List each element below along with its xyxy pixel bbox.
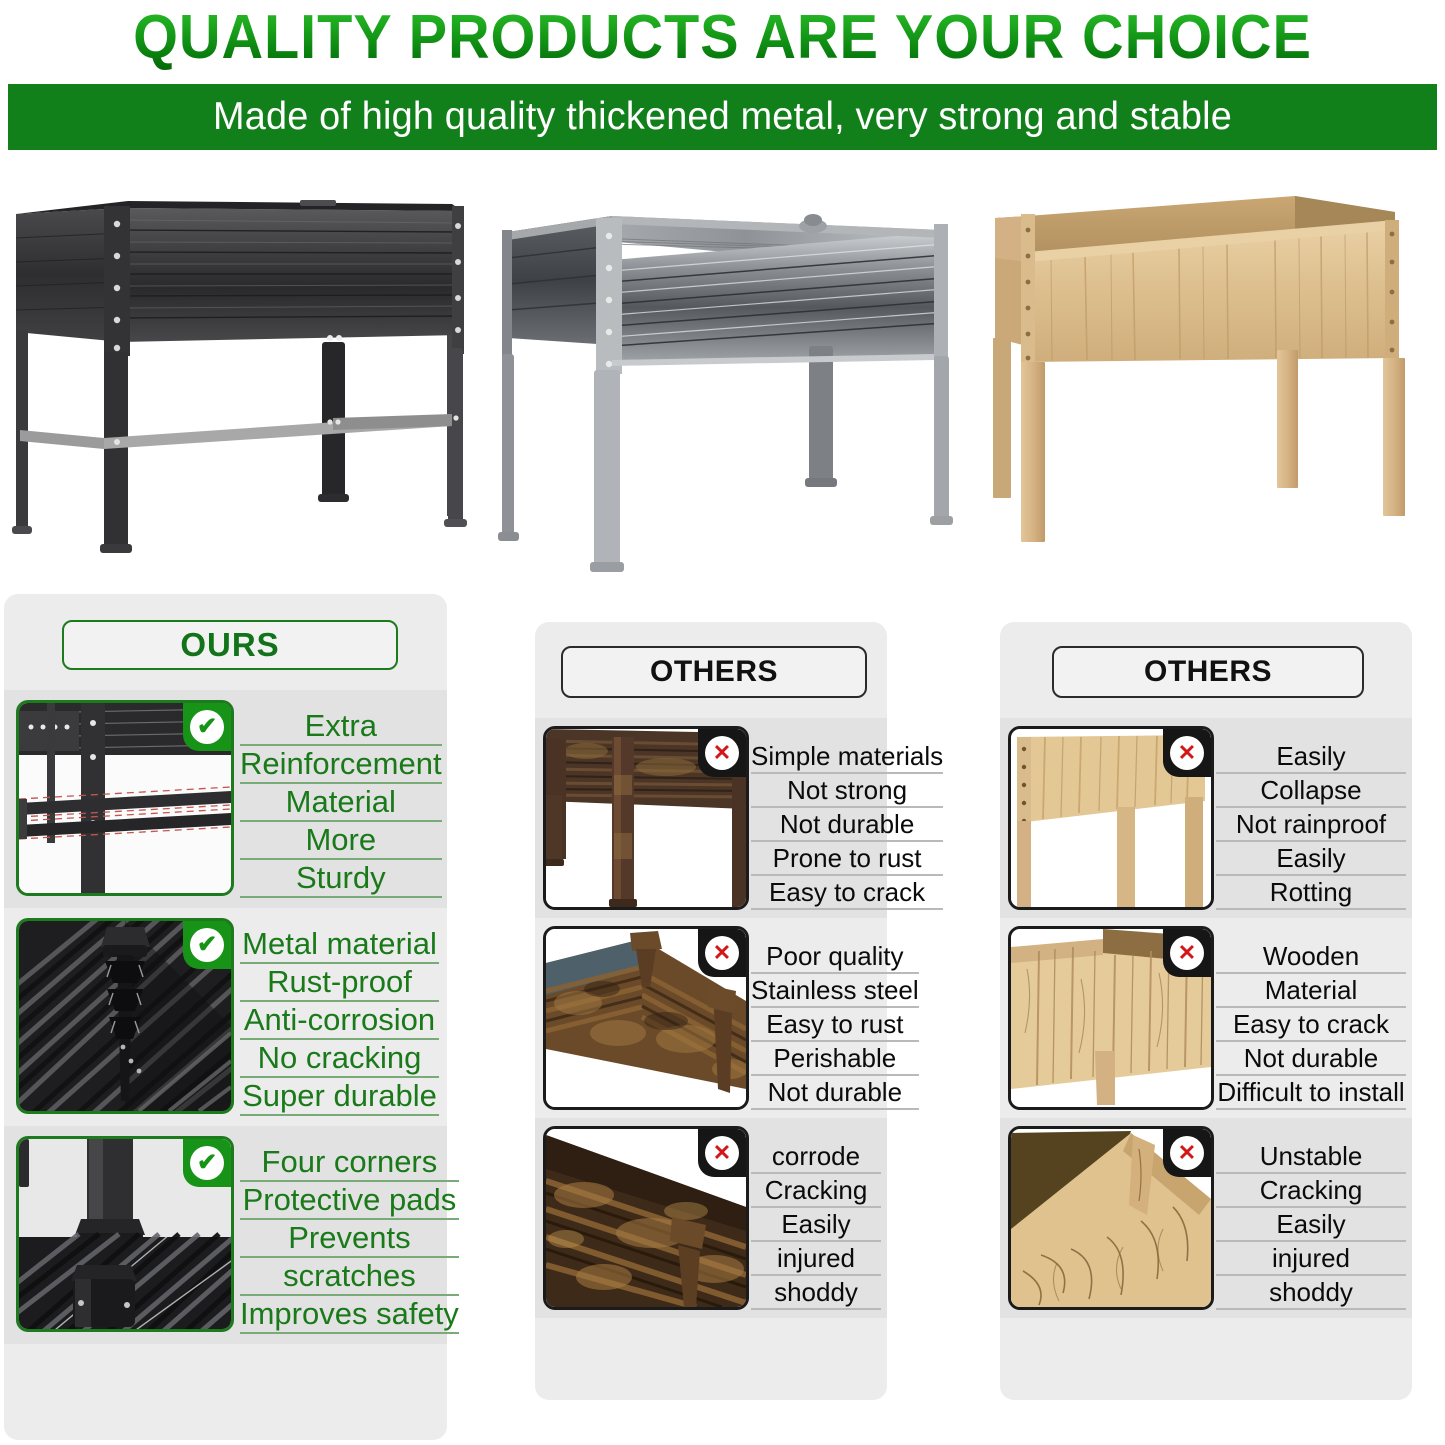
hero-image-black-metal-bed: [0, 170, 480, 570]
feature-line: Material: [1216, 974, 1406, 1008]
thumb-rusty-bed-leg-closeup: ✕: [543, 726, 749, 910]
feature-line: Wooden: [1216, 940, 1406, 974]
check-badge: ✔: [183, 921, 231, 969]
cross-icon: ✕: [705, 1136, 739, 1170]
feature-line: Perishable: [751, 1042, 919, 1076]
feature-line: Prevents: [240, 1220, 459, 1258]
feature-line: Super durable: [240, 1078, 439, 1116]
feature-line: No cracking: [240, 1040, 439, 1078]
feature-line: Collapse: [1216, 774, 1406, 808]
feature-row: ✕ corrode Cracking Easily injured shoddy: [535, 1118, 887, 1318]
feature-line: Stainless steel: [751, 974, 919, 1008]
feature-line: Simple materials: [751, 740, 943, 774]
cross-badge: ✕: [1163, 1129, 1211, 1177]
comparison-panel-ours: OURS: [4, 594, 447, 1440]
thumb-corroded-panel-closeup: ✕: [543, 1126, 749, 1310]
cross-icon: ✕: [705, 936, 739, 970]
thumb-split-wood-corner-closeup: ✕: [1008, 1126, 1214, 1310]
feature-line-group: Easily Collapse Not rainproof Easily Rot…: [1214, 726, 1406, 910]
cross-icon: ✕: [1170, 736, 1204, 770]
cross-badge: ✕: [698, 1129, 746, 1177]
thumb-protective-pad-closeup: ✔: [16, 1136, 234, 1332]
feature-line: Cracking: [751, 1174, 881, 1208]
feature-row: ✕ Easily Collapse Not rainproof Easily R…: [1000, 718, 1412, 918]
others-metal-panel-header: OTHERS: [535, 622, 887, 718]
cross-badge: ✕: [1163, 729, 1211, 777]
feature-line: Easily: [751, 1208, 881, 1242]
feature-line: Protective pads: [240, 1182, 459, 1220]
feature-line-group: Simple materials Not strong Not durable …: [749, 726, 943, 910]
ours-title-badge: OURS: [62, 620, 398, 670]
thumb-cracked-wood-closeup: ✕: [1008, 926, 1214, 1110]
comparison-panel-others-metal: OTHERS: [535, 622, 887, 1400]
feature-line: corrode: [751, 1140, 881, 1174]
cross-badge: ✕: [698, 729, 746, 777]
feature-line: scratches: [240, 1258, 459, 1296]
feature-line-group: Poor quality Stainless steel Easy to rus…: [749, 926, 919, 1110]
feature-line-group: corrode Cracking Easily injured shoddy: [749, 1126, 881, 1310]
feature-line: Reinforcement: [240, 746, 442, 784]
feature-line: Not durable: [1216, 1042, 1406, 1076]
others-metal-title-badge: OTHERS: [561, 646, 867, 698]
feature-line: Difficult to install: [1216, 1076, 1406, 1110]
feature-row: ✕ Poor quality Stainless steel Easy to r…: [535, 918, 887, 1118]
feature-row: ✕ Wooden Material Easy to crack Not dura…: [1000, 918, 1412, 1118]
feature-line: injured: [751, 1242, 881, 1276]
feature-line: Anti-corrosion: [240, 1002, 439, 1040]
feature-line: Rust-proof: [240, 964, 439, 1002]
feature-line: Not strong: [751, 774, 943, 808]
feature-line: Unstable: [1216, 1140, 1406, 1174]
feature-line: Improves safety: [240, 1296, 459, 1334]
feature-row: ✕ Unstable Cracking Easily injured shodd…: [1000, 1118, 1412, 1318]
feature-line: Cracking: [1216, 1174, 1406, 1208]
cross-icon: ✕: [1170, 936, 1204, 970]
feature-line: shoddy: [1216, 1276, 1406, 1310]
subheadline-bar: Made of high quality thickened metal, ve…: [8, 84, 1437, 150]
feature-line: Poor quality: [751, 940, 919, 974]
cross-badge: ✕: [1163, 929, 1211, 977]
feature-line: More: [240, 822, 442, 860]
feature-line: Not durable: [751, 1076, 919, 1110]
feature-line: Extra: [240, 708, 442, 746]
feature-line: Not durable: [751, 808, 943, 842]
hero-image-gray-metal-bed: [482, 170, 962, 580]
hero-image-wooden-bed: [965, 170, 1445, 570]
feature-row: ✔ Four corners Protective pads Prevents …: [4, 1126, 447, 1344]
feature-line: Prone to rust: [751, 842, 943, 876]
feature-row: ✕ Simple materials Not strong Not durabl…: [535, 718, 887, 918]
ours-panel-header: OURS: [4, 594, 447, 690]
hero-product-gallery: [0, 170, 1445, 580]
feature-line: Four corners: [240, 1144, 459, 1182]
check-badge: ✔: [183, 703, 231, 751]
subheadline-text: Made of high quality thickened metal, ve…: [29, 84, 1415, 150]
feature-line: Easily: [1216, 740, 1406, 774]
feature-line: Rotting: [1216, 876, 1406, 910]
check-icon: ✔: [190, 710, 224, 744]
feature-line: Easy to rust: [751, 1008, 919, 1042]
ours-feature-rows: ✔ Extra Reinforcement Material More Stur…: [4, 690, 447, 1344]
check-icon: ✔: [190, 1146, 224, 1180]
others-wood-feature-rows: ✕ Easily Collapse Not rainproof Easily R…: [1000, 718, 1412, 1318]
page-headline: QUALITY PRODUCTS ARE YOUR CHOICE: [51, 2, 1395, 74]
cross-badge: ✕: [698, 929, 746, 977]
thumb-metal-corner-closeup: ✔: [16, 918, 234, 1114]
feature-line: Sturdy: [240, 860, 442, 898]
feature-line: injured: [1216, 1242, 1406, 1276]
feature-line: shoddy: [751, 1276, 881, 1310]
feature-line: Material: [240, 784, 442, 822]
feature-line: Not rainproof: [1216, 808, 1406, 842]
feature-row: ✔ Extra Reinforcement Material More Stur…: [4, 690, 447, 908]
feature-line-group: Unstable Cracking Easily injured shoddy: [1214, 1126, 1406, 1310]
feature-line-group: Metal material Rust-proof Anti-corrosion…: [234, 918, 439, 1116]
thumb-rusty-bed-corner-closeup: ✕: [543, 926, 749, 1110]
thumb-reinforcement-bar-closeup: ✔: [16, 700, 234, 896]
thumb-wood-panel-legs-closeup: ✕: [1008, 726, 1214, 910]
others-wood-panel-header: OTHERS: [1000, 622, 1412, 718]
others-metal-feature-rows: ✕ Simple materials Not strong Not durabl…: [535, 718, 887, 1318]
feature-line: Metal material: [240, 926, 439, 964]
check-icon: ✔: [190, 928, 224, 962]
feature-line: Easy to crack: [751, 876, 943, 910]
cross-icon: ✕: [705, 736, 739, 770]
feature-line-group: Wooden Material Easy to crack Not durabl…: [1214, 926, 1406, 1110]
feature-line-group: Four corners Protective pads Prevents sc…: [234, 1136, 459, 1334]
feature-row: ✔ Metal material Rust-proof Anti-corrosi…: [4, 908, 447, 1126]
cross-icon: ✕: [1170, 1136, 1204, 1170]
others-wood-title-badge: OTHERS: [1052, 646, 1364, 698]
check-badge: ✔: [183, 1139, 231, 1187]
feature-line: Easily: [1216, 1208, 1406, 1242]
feature-line-group: Extra Reinforcement Material More Sturdy: [234, 700, 442, 898]
feature-line: Easily: [1216, 842, 1406, 876]
comparison-panel-others-wood: OTHERS: [1000, 622, 1412, 1400]
feature-line: Easy to crack: [1216, 1008, 1406, 1042]
